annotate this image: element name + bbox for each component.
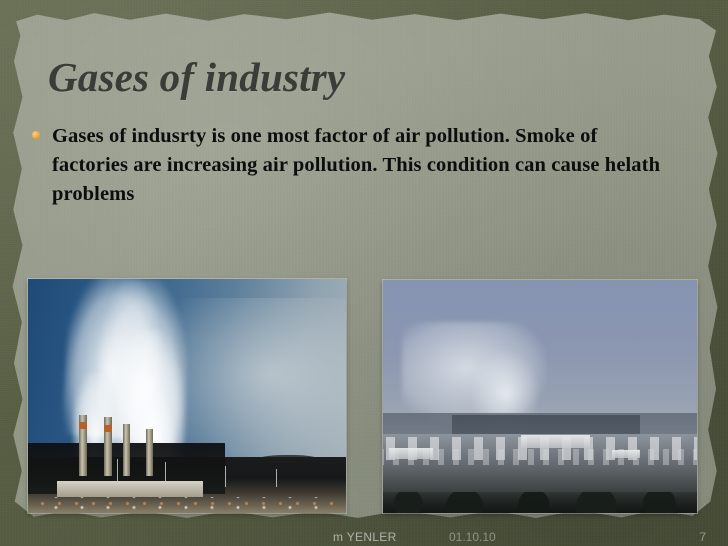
utility-pole: [276, 469, 277, 488]
foreground-treeline: [383, 492, 697, 513]
presentation-slide: Gases of industry Gases of indusrty is o…: [0, 0, 728, 546]
smokestack: [146, 429, 153, 476]
slide-title: Gases of industry: [48, 53, 345, 101]
bullet-text: Gases of indusrty is one most factor of …: [52, 122, 662, 209]
smokestack: [123, 424, 130, 475]
utility-pole: [225, 466, 226, 487]
smoggy-city-photo: [383, 280, 697, 513]
smokestack: [79, 415, 87, 476]
plant-building: [57, 481, 203, 496]
apartment-block: [612, 450, 640, 459]
cityscape-band: [383, 434, 697, 513]
industrial-smokestacks-photo: [28, 279, 346, 513]
bullet-dot-icon: [32, 131, 40, 139]
parking-lot-vehicles: [34, 497, 339, 511]
apartment-block: [521, 435, 590, 448]
bullet-list-item: Gases of indusrty is one most factor of …: [32, 122, 662, 209]
smokestack: [104, 417, 112, 476]
apartment-block: [389, 448, 433, 459]
